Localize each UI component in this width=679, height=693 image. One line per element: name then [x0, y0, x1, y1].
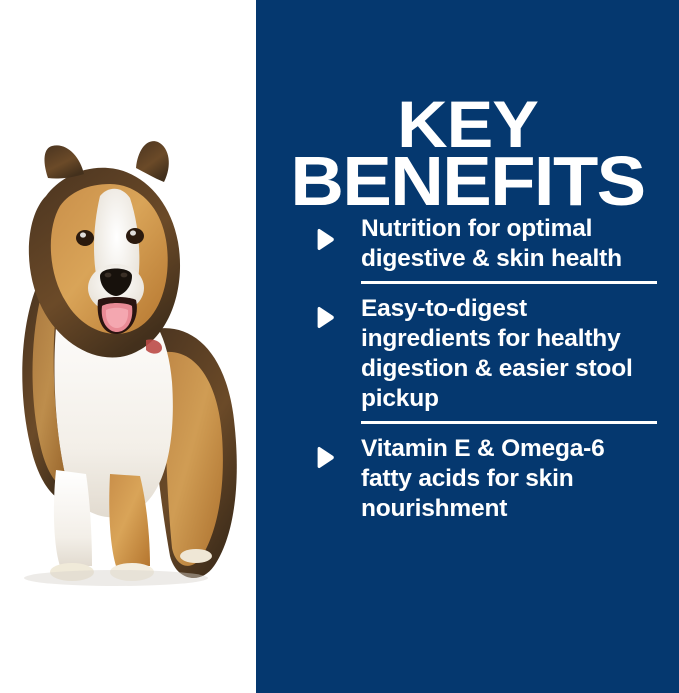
benefit-text-3: Vitamin E & Omega-6 fatty acids for skin…	[361, 434, 661, 524]
triangle-right-icon	[313, 228, 336, 251]
benefit-text-2: Easy-to-digest ingredients for healthy d…	[361, 294, 661, 414]
page-title-line-2: BENEFITS	[256, 153, 679, 210]
benefit-item-1: Nutrition for optimal digestive & skin h…	[306, 214, 661, 274]
benefit-item-2: Easy-to-digest ingredients for healthy d…	[306, 274, 661, 414]
triangle-right-icon	[313, 446, 336, 469]
benefit-text-1: Nutrition for optimal digestive & skin h…	[361, 214, 661, 274]
page-title: KEY BENEFITS	[256, 96, 679, 210]
sheltie-dog-photo	[0, 0, 256, 693]
key-benefits-panel: Shetland Sheepdog standing, facing forwa…	[0, 0, 679, 693]
benefit-item-3: Vitamin E & Omega-6 fatty acids for skin…	[306, 414, 661, 524]
list-divider-1	[361, 281, 657, 284]
triangle-right-icon	[313, 306, 336, 329]
list-divider-2	[361, 421, 657, 424]
benefits-pane: KEY BENEFITS Nutrition for optimal diges…	[256, 0, 679, 693]
product-photo-pane: Shetland Sheepdog standing, facing forwa…	[0, 0, 256, 693]
benefits-list: Nutrition for optimal digestive & skin h…	[306, 214, 661, 524]
